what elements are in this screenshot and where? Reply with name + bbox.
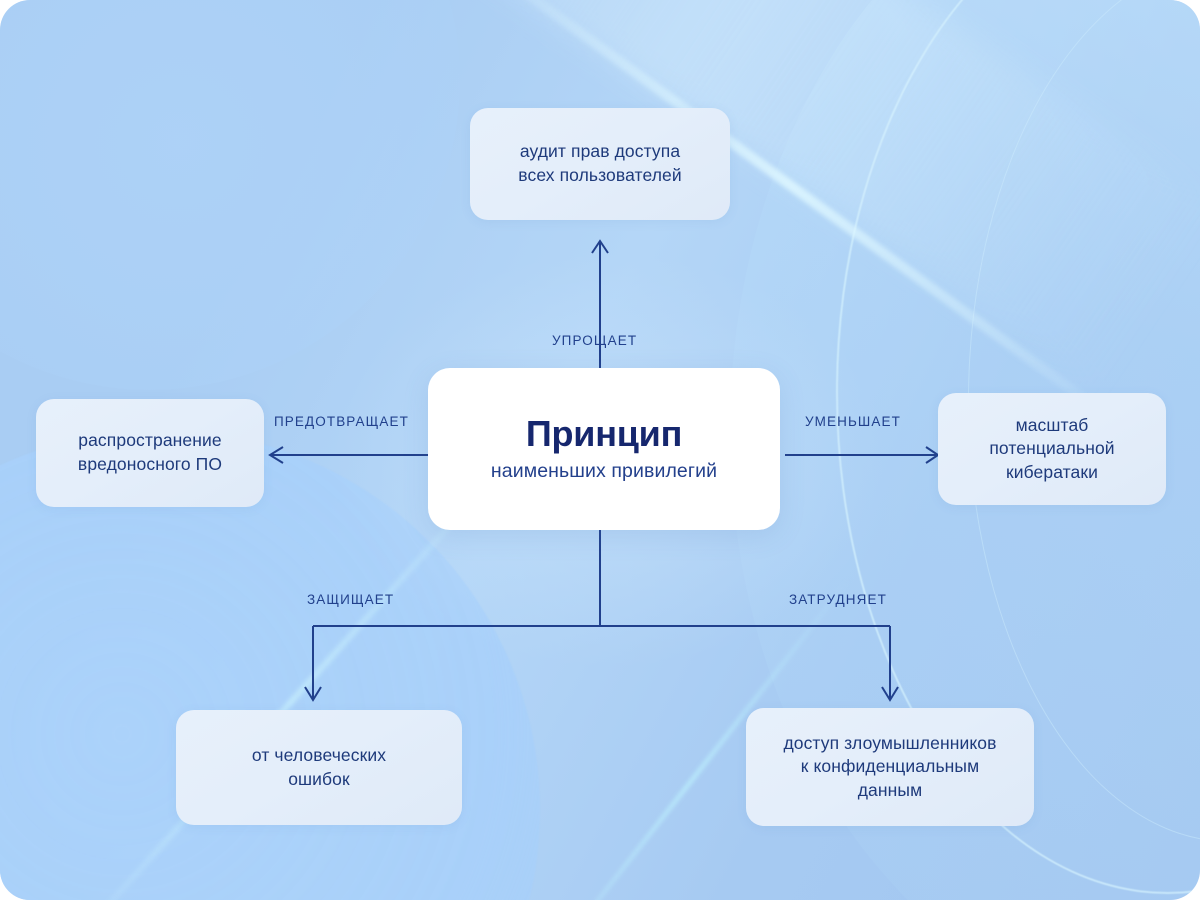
node-human-errors-line-2: ошибок [252, 768, 386, 792]
node-malware-line-1: распространение [78, 429, 222, 453]
node-cyberattack-scale[interactable]: масштаб потенциальной кибератаки [938, 393, 1166, 505]
diagram-canvas: УПРОЩАЕТ ПРЕДОТВРАЩАЕТ УМЕНЬШАЕТ ЗАЩИЩАЕ… [0, 0, 1200, 900]
edge-arrowhead-protects [305, 687, 321, 700]
edge-arrowhead-simplifies [592, 241, 608, 253]
node-audit-of-access-rights[interactable]: аудит прав доступа всех пользователей [470, 108, 730, 220]
node-scale-line-3: кибератаки [989, 461, 1114, 485]
node-audit-text: аудит прав доступа всех пользователей [518, 140, 681, 187]
node-scale-line-2: потенциальной [989, 437, 1114, 461]
node-attacker-access-line-1: доступ злоумышленников [783, 732, 996, 756]
node-human-errors[interactable]: от человеческих ошибок [176, 710, 462, 825]
node-human-errors-text: от человеческих ошибок [252, 744, 386, 791]
edge-label-prevents: ПРЕДОТВРАЩАЕТ [274, 414, 409, 429]
background-circle-top-left [0, 0, 460, 390]
node-audit-line-1: аудит прав доступа [518, 140, 681, 164]
center-node-title: Принцип [526, 414, 682, 454]
node-center-least-privilege-principle[interactable]: Принцип наименьших привилегий [428, 368, 780, 530]
node-attacker-access-text: доступ злоумышленников к конфиденциальны… [783, 732, 996, 803]
edge-label-hinders: ЗАТРУДНЯЕТ [789, 592, 887, 607]
node-malware-text: распространение вредоносного ПО [78, 429, 222, 476]
node-malware-line-2: вредоносного ПО [78, 453, 222, 477]
node-attacker-access-to-confidential-data[interactable]: доступ злоумышленников к конфиденциальны… [746, 708, 1034, 826]
node-scale-line-1: масштаб [989, 414, 1114, 438]
center-node-subtitle: наименьших привилегий [491, 458, 717, 484]
node-audit-line-2: всех пользователей [518, 164, 681, 188]
node-attacker-access-line-3: данным [783, 779, 996, 803]
node-human-errors-line-1: от человеческих [252, 744, 386, 768]
edge-label-reduces: УМЕНЬШАЕТ [805, 414, 901, 429]
edge-arrowhead-hinders [882, 687, 898, 700]
node-scale-text: масштаб потенциальной кибератаки [989, 414, 1114, 485]
edge-label-simplifies: УПРОЩАЕТ [552, 333, 637, 348]
edge-arrowhead-reduces [926, 447, 938, 463]
node-malware-spread[interactable]: распространение вредоносного ПО [36, 399, 264, 507]
edge-arrowhead-prevents [270, 447, 283, 463]
background-streak-1 [274, 0, 1200, 391]
edge-label-protects: ЗАЩИЩАЕТ [307, 592, 394, 607]
node-attacker-access-line-2: к конфиденциальным [783, 755, 996, 779]
